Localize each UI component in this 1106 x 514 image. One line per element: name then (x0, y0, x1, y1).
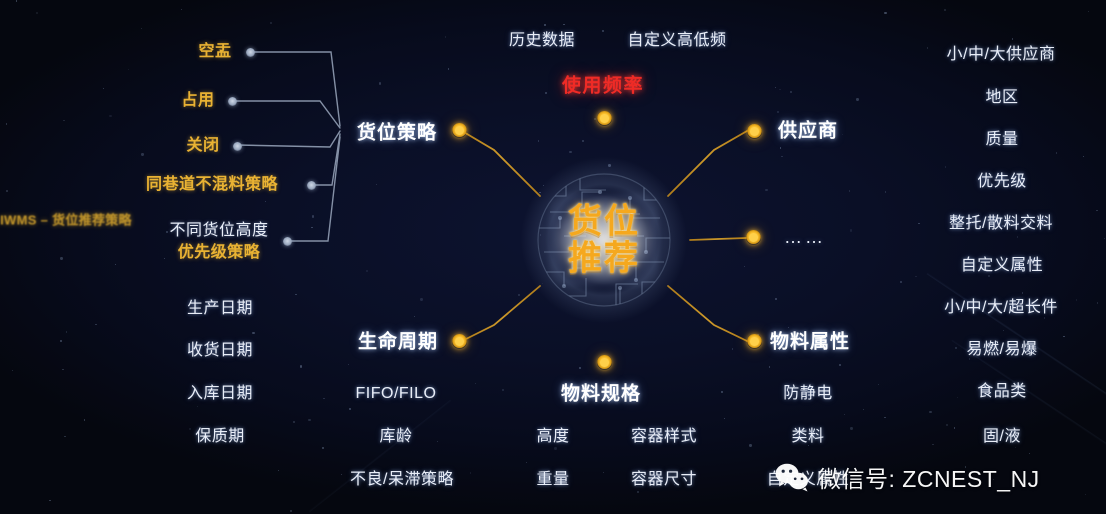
leaf-region[interactable]: 地区 (985, 89, 1018, 107)
leaf-custom-high-low-frequency[interactable]: 自定义高低频 (627, 32, 726, 50)
leaf-stock-age[interactable]: 库龄 (379, 428, 412, 446)
leaf-defective-slow-moving-policy[interactable]: 不良/呆滞策略 (350, 471, 454, 489)
leaf-supplier-size[interactable]: 小/中/大供应商 (947, 46, 1056, 64)
node-occupied[interactable] (228, 97, 237, 106)
node-location-strategy[interactable] (452, 123, 467, 138)
leaf-food-category[interactable]: 食品类 (977, 383, 1027, 401)
leaf-category-material[interactable]: 类料 (791, 428, 824, 446)
hub-label: 货位 推荐 (520, 203, 688, 276)
center-hub[interactable]: 货位 推荐 (520, 156, 688, 324)
branch-label-lifecycle[interactable]: 生命周期 (358, 331, 438, 352)
leaf-priority[interactable]: 优先级 (977, 173, 1027, 191)
branch-label-material-attributes[interactable]: 物料属性 (770, 331, 850, 352)
hub-label-line2: 推荐 (520, 240, 688, 277)
node-lifecycle[interactable] (452, 334, 467, 349)
branch-label-ellipsis[interactable]: …… (784, 227, 826, 247)
node-usage-frequency[interactable] (597, 111, 612, 126)
branch-label-material-spec[interactable]: 物料规格 (561, 383, 641, 404)
branch-label-usage-frequency[interactable]: 使用频率 (562, 75, 644, 96)
mindmap-canvas: 货位 推荐 货位策略 生命周期 使用频率 供应商 …… 物料属性 物料规格 空盂… (0, 0, 1106, 514)
leaf-empty-bin[interactable]: 空盂 (198, 43, 231, 61)
leaf-antistatic[interactable]: 防静电 (783, 385, 833, 403)
leaf-weight[interactable]: 重量 (536, 471, 569, 489)
leaf-same-aisle-no-mix-policy[interactable]: 同巷道不混料策略 (146, 176, 278, 194)
hub-label-line1: 货位 (520, 203, 688, 240)
leaf-history-data[interactable]: 历史数据 (509, 32, 575, 50)
wechat-icon (775, 462, 809, 492)
leaf-item-size-class[interactable]: 小/中/大/超长件 (944, 299, 1058, 317)
leaf-container-style[interactable]: 容器样式 (631, 428, 697, 446)
leaf-shelf-life[interactable]: 保质期 (195, 428, 245, 446)
wechat-watermark: 微信号: ZCNEST_NJ (775, 460, 1040, 494)
leaf-inbound-date[interactable]: 入库日期 (187, 385, 253, 403)
leaf-fifo-filo[interactable]: FIFO/FILO (356, 385, 437, 403)
leaf-closed[interactable]: 关闭 (186, 137, 219, 155)
leaf-container-size[interactable]: 容器尺寸 (631, 471, 697, 489)
leaf-flammable-explosive[interactable]: 易燃/易爆 (967, 341, 1038, 359)
branch-label-location-strategy[interactable]: 货位策略 (357, 122, 437, 143)
node-same-aisle-policy[interactable] (307, 181, 316, 190)
branch-label-supplier[interactable]: 供应商 (778, 120, 838, 141)
leaf-height-priority-policy-line2: 优先级策略 (169, 244, 268, 262)
leaf-occupied[interactable]: 占用 (181, 92, 214, 110)
node-material-spec[interactable] (597, 355, 612, 370)
watermark-left: IWMS – 货位推荐策略 (0, 214, 132, 229)
leaf-quality[interactable]: 质量 (985, 131, 1018, 149)
leaf-pallet-or-bulk-delivery[interactable]: 整托/散料交料 (949, 215, 1053, 233)
wechat-id-text: 微信号: ZCNEST_NJ (818, 460, 1040, 494)
leaf-height[interactable]: 高度 (536, 428, 569, 446)
leaf-production-date[interactable]: 生产日期 (187, 300, 253, 318)
node-material-attributes[interactable] (747, 334, 762, 349)
node-closed[interactable] (233, 142, 242, 151)
node-height-priority[interactable] (283, 237, 292, 246)
node-supplier[interactable] (747, 124, 762, 139)
light-streak-decoration-3 (308, 400, 451, 512)
leaf-receipt-date[interactable]: 收货日期 (187, 342, 253, 360)
leaf-height-priority-policy[interactable]: 不同货位高度 优先级策略 (169, 222, 268, 262)
leaf-height-priority-policy-line1: 不同货位高度 (169, 222, 268, 240)
leaf-custom-attribute-right[interactable]: 自定义属性 (961, 257, 1044, 275)
node-ellipsis[interactable] (746, 230, 761, 245)
node-empty-bin[interactable] (246, 48, 255, 57)
leaf-solid-liquid[interactable]: 固/液 (983, 428, 1021, 446)
